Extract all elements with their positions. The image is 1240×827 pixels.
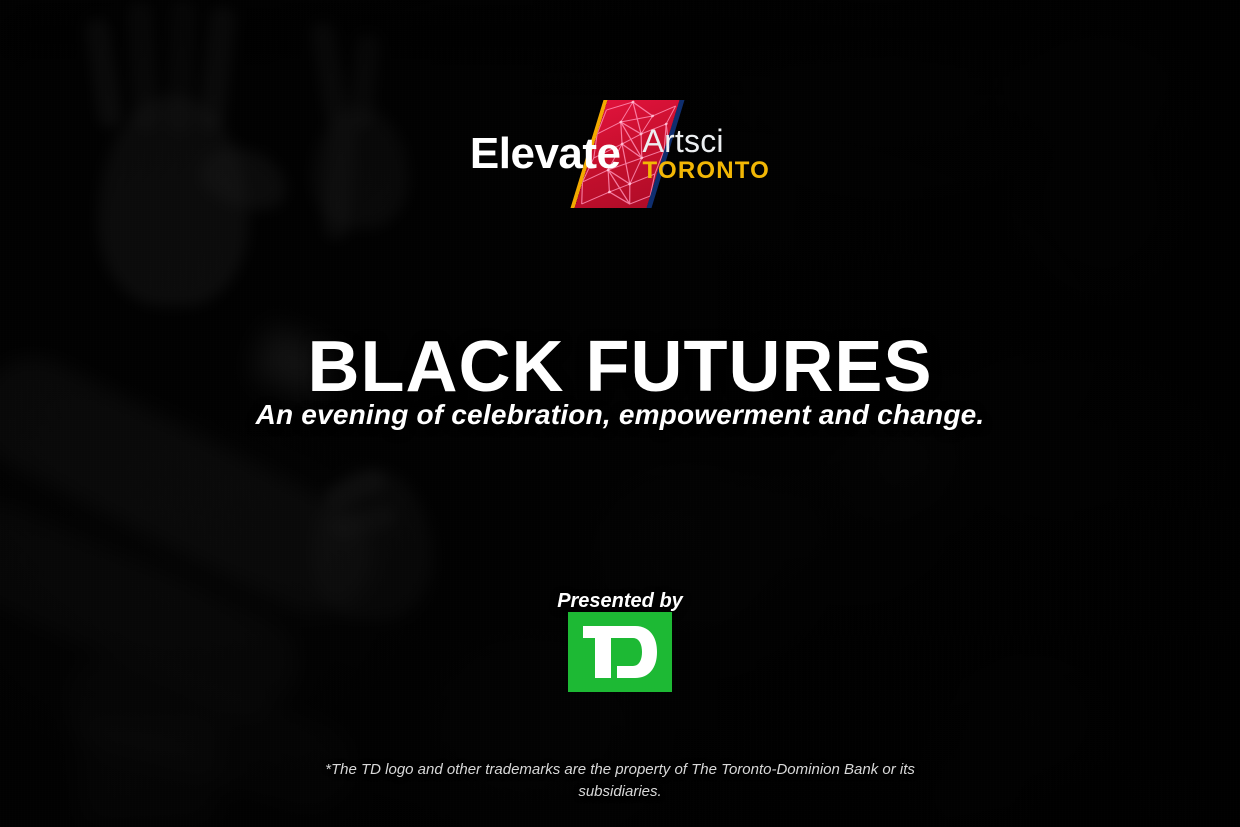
event-title: BLACK FUTURES xyxy=(0,331,1240,403)
slide-content: Elevate xyxy=(0,0,1240,827)
logo-inner: Elevate xyxy=(470,108,770,200)
logo-words: Artsci TORONTO xyxy=(643,125,771,183)
elevate-artsci-toronto-logo[interactable]: Elevate xyxy=(0,108,1240,200)
logo-elevate-word: Elevate xyxy=(470,132,621,176)
presented-by-label: Presented by xyxy=(0,590,1240,613)
td-bank-logo[interactable] xyxy=(568,612,672,692)
logo-artsci-word: Artsci xyxy=(643,125,771,157)
event-tagline: An evening of celebration, empowerment a… xyxy=(0,398,1240,432)
trademark-disclaimer: *The TD logo and other trademarks are th… xyxy=(320,759,920,803)
sponsor-logo-wrap xyxy=(0,612,1240,692)
logo-toronto-word: TORONTO xyxy=(643,159,771,183)
slide-canvas: Elevate xyxy=(0,0,1240,827)
